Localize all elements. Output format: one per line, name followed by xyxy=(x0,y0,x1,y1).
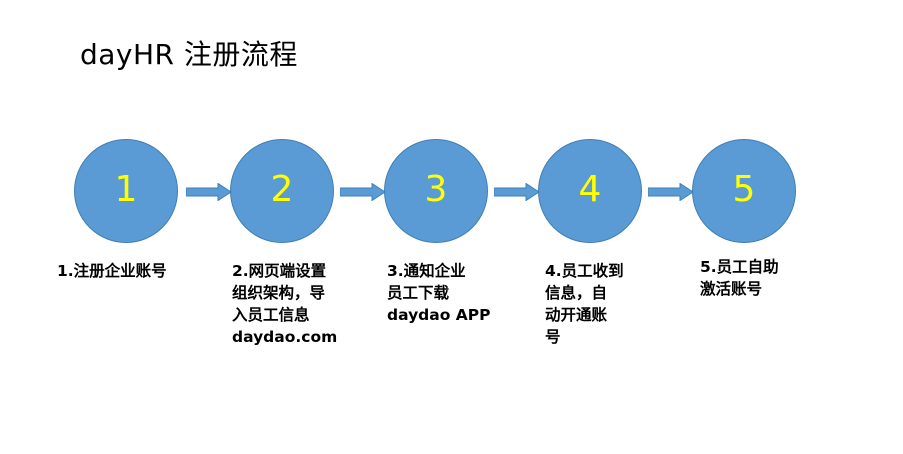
flow-step-2[interactable]: 2 xyxy=(230,139,336,245)
step-caption-2: 2.网页端设置 组织架构，导 入员工信息 daydao.com xyxy=(232,260,362,348)
step-circle-4[interactable]: 4 xyxy=(538,139,642,243)
step-caption-1: 1.注册企业账号 xyxy=(57,260,227,282)
arrow-right-icon-3 xyxy=(494,183,540,201)
step-number-3: 3 xyxy=(425,172,448,208)
arrow-right-icon-2 xyxy=(340,183,386,201)
flow-step-5[interactable]: 5 xyxy=(692,139,798,245)
step-circle-5[interactable]: 5 xyxy=(692,139,796,243)
arrow-right-icon-4 xyxy=(648,183,694,201)
step-circle-3[interactable]: 3 xyxy=(384,139,488,243)
step-caption-4: 4.员工收到 信息，自 动开通账 号 xyxy=(545,260,655,348)
arrow-right-icon-1 xyxy=(186,183,232,201)
flow-step-4[interactable]: 4 xyxy=(538,139,644,245)
step-number-1: 1 xyxy=(115,172,138,208)
page-title: dayHR 注册流程 xyxy=(80,38,298,72)
flow-step-3[interactable]: 3 xyxy=(384,139,490,245)
step-number-2: 2 xyxy=(271,172,294,208)
step-circle-2[interactable]: 2 xyxy=(230,139,334,243)
step-circle-1[interactable]: 1 xyxy=(74,139,178,243)
step-caption-5: 5.员工自助 激活账号 xyxy=(700,256,830,300)
diagram-canvas: dayHR 注册流程 1 2 3 4 5 xyxy=(0,0,903,454)
step-number-4: 4 xyxy=(579,172,602,208)
step-number-5: 5 xyxy=(733,172,756,208)
flow-step-1[interactable]: 1 xyxy=(74,139,180,245)
step-caption-3: 3.通知企业 员工下载 daydao APP xyxy=(387,260,517,326)
